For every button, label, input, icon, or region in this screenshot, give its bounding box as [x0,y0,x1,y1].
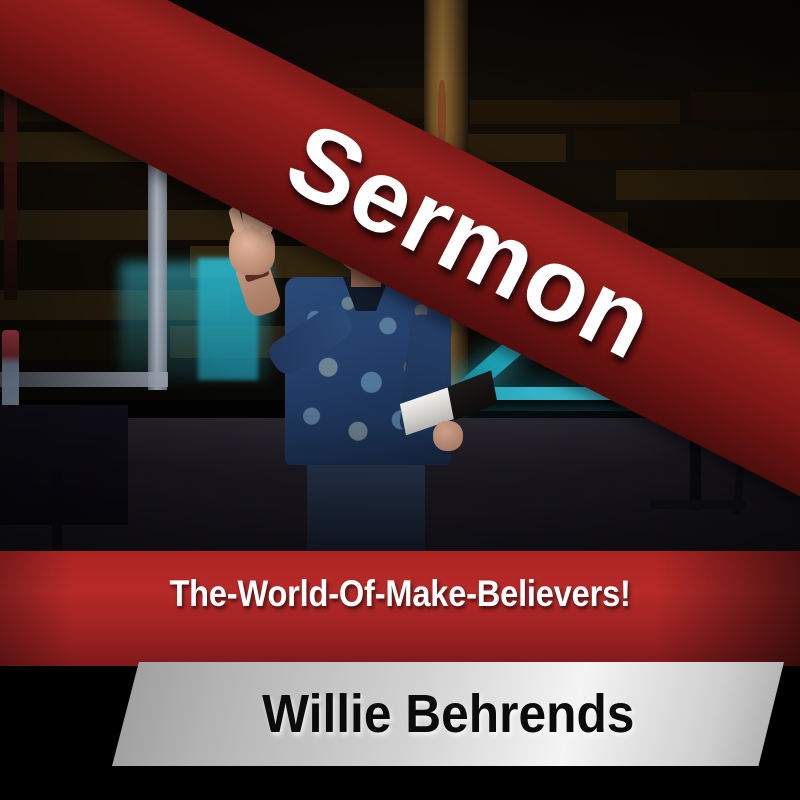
stage-cable [700,360,763,450]
bible-cover [448,370,498,420]
sermon-thumbnail-card: Sermon The-World-Of-Make-Believers! Will… [0,0,800,800]
sermon-title: The-World-Of-Make-Believers! [169,573,630,615]
keyboard-stand-base [650,500,746,509]
raised-hand [229,223,275,275]
podium [0,405,128,525]
speaker-name-plate: Willie Behrends [112,662,784,766]
speaker-name: Willie Behrends [262,683,634,745]
hair [329,191,401,231]
title-bar: The-World-Of-Make-Believers! [0,551,800,666]
holding-hand [433,421,463,451]
glasses-icon [337,229,393,242]
water-bottle [2,330,19,408]
podium-leg [52,470,62,551]
goatee [351,249,379,271]
stage-photo [0,0,800,551]
speaker-pants [307,457,425,551]
vertical-lit-beam [148,60,167,390]
horizontal-lit-beam [0,372,168,387]
red-edge-beam [4,0,17,300]
speaker-figure [255,185,475,551]
